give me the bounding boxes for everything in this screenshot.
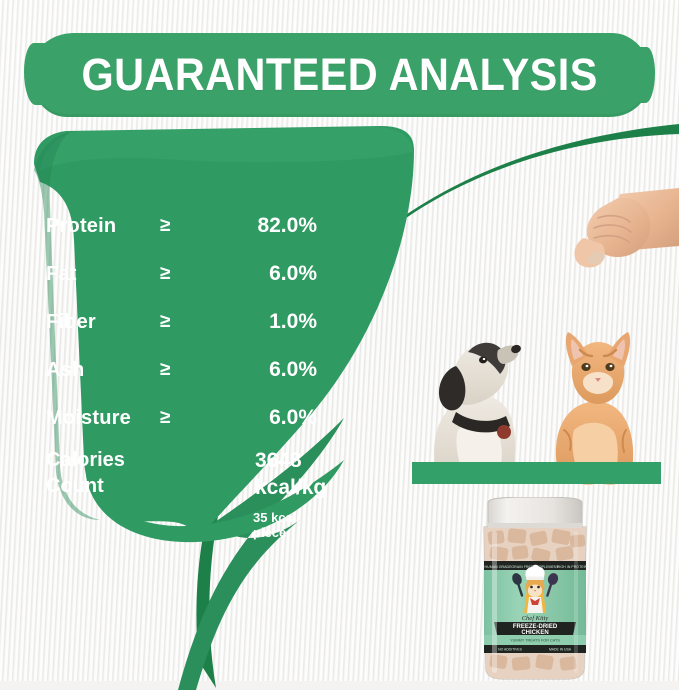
- table-row: Moisture ≥ 6.0%: [0, 394, 450, 442]
- label-badge-left: HUMAN GRADE: [485, 565, 513, 569]
- hand-icon: [560, 188, 679, 280]
- pets-photo: [412, 310, 662, 485]
- green-shelf-bar: [412, 462, 661, 484]
- table-row: Fat ≥ 6.0%: [0, 250, 450, 298]
- guaranteed-analysis-panel: Protein ≥ 82.0% Fat ≥ 6.0% Fiber ≥ 1.0% …: [0, 150, 450, 660]
- jar-lid: [488, 497, 582, 527]
- product-infographic: GUARANTEED ANALYSIS Protein ≥ 82.0% Fat …: [0, 0, 679, 681]
- label-badge-bottom-right: MADE IN USA: [549, 648, 572, 652]
- jar-label: HUMAN GRADE GRAIN FREE SUPPLEMENT HIGH I…: [484, 561, 588, 636]
- calories-label: Calories Count: [46, 448, 125, 499]
- nutrient-label: Fiber: [46, 311, 96, 334]
- calories-label-line2: Count: [46, 474, 125, 500]
- calories-value-line1: 3648: [255, 448, 325, 475]
- nutrient-value: 6.0%: [175, 262, 317, 286]
- table-row: Protein ≥ 82.0%: [0, 202, 450, 250]
- nutrition-row-list: Protein ≥ 82.0% Fat ≥ 6.0% Fiber ≥ 1.0% …: [0, 150, 450, 660]
- calories-value: 3648 kcal/kg: [175, 448, 325, 502]
- nutrient-value: 1.0%: [175, 310, 317, 334]
- nutrient-sign: ≥: [160, 215, 170, 237]
- nutrient-label: Fat: [46, 263, 77, 286]
- nutrient-value: 82.0%: [175, 214, 317, 238]
- calories-label-line1: Calories: [46, 448, 125, 474]
- product-jar-icon: HUMAN GRADE GRAIN FREE SUPPLEMENT HIGH I…: [474, 497, 596, 681]
- page-title: GUARANTEED ANALYSIS: [82, 49, 598, 101]
- table-row: Fiber ≥ 1.0%: [0, 298, 450, 346]
- nutrient-value: 6.0%: [175, 406, 317, 430]
- nutrient-sign: ≥: [160, 311, 170, 333]
- nutrient-label: Moisture: [46, 407, 131, 430]
- product-jar: HUMAN GRADE GRAIN FREE SUPPLEMENT HIGH I…: [474, 497, 596, 681]
- label-badge-bottom-left: NO ADDITIVES: [498, 648, 522, 652]
- nutrient-label: Ash: [46, 359, 84, 382]
- nutrient-value: 6.0%: [175, 358, 317, 382]
- calories-value-line2: kcal/kg: [255, 475, 325, 502]
- table-row: Ash ≥ 6.0%: [0, 346, 450, 394]
- page-title-banner: GUARANTEED ANALYSIS: [30, 33, 650, 117]
- nutrient-sign: ≥: [160, 263, 170, 285]
- brand-script: Chef Kitty: [522, 615, 549, 622]
- nutrient-label: Protein: [46, 215, 116, 238]
- dog-icon: [434, 343, 522, 480]
- hand-holding-treat-photo: [560, 188, 679, 280]
- product-tagline: YUMMY TREATS FOR CATS: [510, 638, 560, 642]
- nutrient-sign: ≥: [160, 407, 170, 429]
- label-badge-right: HIGH IN PROTEIN: [557, 565, 588, 569]
- nutrient-sign: ≥: [160, 359, 170, 381]
- calories-sub-note: 35 kcal/ piece: [175, 510, 325, 540]
- dog-and-cat-icon: [412, 310, 662, 485]
